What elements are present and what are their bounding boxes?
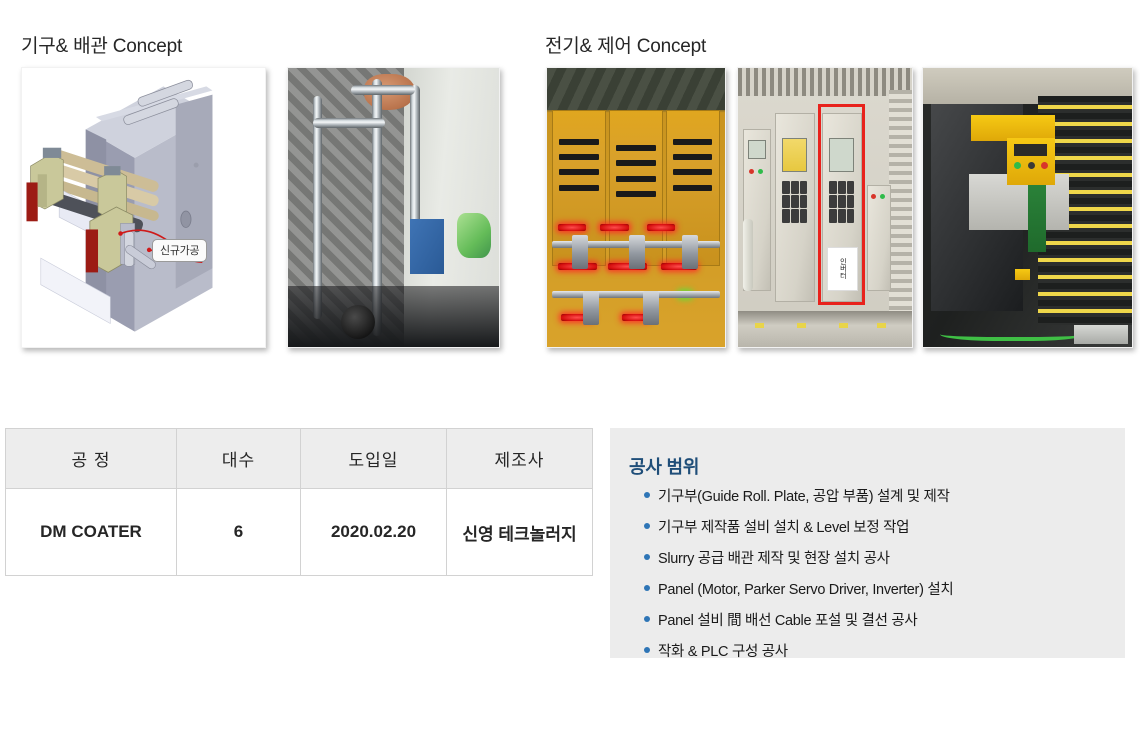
busbar-clamp-5 (643, 291, 659, 324)
busbar-clamp-2 (629, 235, 645, 268)
column-header-manufacturer: 제조사 (447, 429, 593, 489)
scope-item-list: 기구부(Guide Roll. Plate, 공압 부품) 설계 및 제작 기구… (642, 485, 953, 671)
inverter-cable (743, 219, 753, 292)
list-item: 기구부 제작품 설비 설치 & Level 보정 작업 (642, 516, 953, 537)
scope-item-text: 기구부 제작품 설비 설치 & Level 보정 작업 (658, 520, 909, 536)
list-item: Panel (Motor, Parker Servo Driver, Inver… (642, 578, 953, 599)
busbar-clamp-1 (572, 235, 588, 268)
inverter-unit-right (867, 185, 891, 291)
section-title-mechanical: 기구& 배관 Concept (21, 31, 182, 58)
bullet-icon (644, 585, 650, 591)
column-header-quantity: 대수 (177, 429, 301, 489)
bullet-icon (644, 554, 650, 560)
list-item: Panel 설비 間 배선 Cable 포설 및 결선 공사 (642, 609, 953, 630)
cad-callout-label: 신규가공 (152, 239, 207, 262)
cell-quantity: 6 (177, 489, 301, 576)
column-header-install-date: 도입일 (301, 429, 447, 489)
slide-canvas: 기구& 배관 Concept 전기& 제어 Concept (0, 0, 1140, 750)
busbar-clamp-4 (583, 291, 599, 324)
image-inverter-photo: 인버터 (737, 67, 913, 348)
busbar-lower (552, 291, 719, 298)
scope-item-text: Panel (Motor, Parker Servo Driver, Inver… (658, 582, 953, 598)
servo-yellow-face (1007, 138, 1055, 185)
equipment-spec-table: 공 정 대수 도입일 제조사 DM COATER 6 2020.02.20 신영… (5, 428, 593, 576)
inverter-side-vent (889, 90, 912, 319)
cell-install-date: 2020.02.20 (301, 489, 447, 576)
image-cad-concept: 신규가공 (21, 67, 266, 348)
cell-manufacturer: 신영 테크놀러지 (447, 489, 593, 576)
image-breaker-photo (546, 67, 726, 348)
inverter-top-vent (738, 68, 912, 96)
scope-panel-title: 공사 범위 (629, 453, 699, 479)
bullet-icon (644, 523, 650, 529)
busbar-clamp-3 (682, 235, 698, 268)
bullet-icon (644, 616, 650, 622)
scope-item-text: Panel 설비 間 배선 Cable 포설 및 결선 공사 (658, 613, 917, 629)
list-item: 작화 & PLC 구성 공사 (642, 640, 953, 661)
inverter-tag-label: 인버터 (827, 247, 858, 292)
scope-item-text: 기구부(Guide Roll. Plate, 공압 부품) 설계 및 제작 (658, 489, 950, 505)
drain-fitting (341, 305, 375, 339)
green-ground-cable (940, 325, 1086, 342)
image-piping-photo (287, 67, 500, 348)
floor-area (288, 286, 499, 347)
bullet-icon (644, 647, 650, 653)
cad-machine-drawing (22, 68, 265, 347)
breaker-top-vent (547, 68, 725, 110)
column-header-process: 공 정 (6, 429, 177, 489)
image-servo-photo (922, 67, 1133, 348)
breaker-indicator-1 (558, 224, 586, 231)
list-item: 기구부(Guide Roll. Plate, 공압 부품) 설계 및 제작 (642, 485, 953, 506)
breaker-indicator-3 (647, 224, 675, 231)
scope-item-text: 작화 & PLC 구성 공사 (658, 644, 788, 660)
list-item: Slurry 공급 배관 제작 및 현장 설치 공사 (642, 547, 953, 568)
servo-yellow-handle (971, 115, 1055, 140)
table-row: DM COATER 6 2020.02.20 신영 테크놀러지 (6, 489, 593, 576)
pipe-horizontal-upper (313, 118, 385, 128)
pipe-horizontal-top (351, 85, 414, 95)
servo-floor-tray (1074, 325, 1128, 345)
pipe-bracket (410, 219, 444, 275)
inverter-bottom-rail (738, 311, 912, 347)
green-wrap (457, 213, 491, 258)
bullet-icon (644, 492, 650, 498)
scope-of-work-panel: 공사 범위 기구부(Guide Roll. Plate, 공압 부품) 설계 및… (610, 428, 1125, 658)
table-header-row: 공 정 대수 도입일 제조사 (6, 429, 593, 489)
scope-item-text: Slurry 공급 배관 제작 및 현장 설치 공사 (658, 551, 890, 567)
inverter-unit-amber (775, 113, 815, 303)
servo-yellow-latch (1015, 269, 1030, 280)
cell-process: DM COATER (6, 489, 177, 576)
breaker-indicator-2 (600, 224, 628, 231)
section-title-electrical: 전기& 제어 Concept (545, 31, 706, 58)
